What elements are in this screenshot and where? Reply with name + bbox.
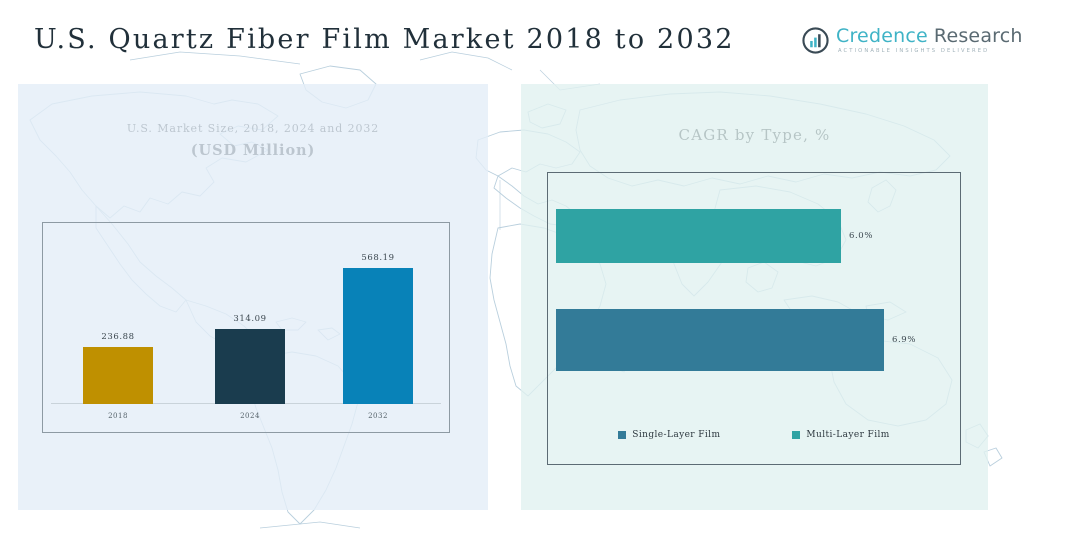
- legend-item-multi-layer-film[interactable]: Multi-Layer Film: [792, 430, 889, 440]
- bar-value-multi-layer-film: 6.0%: [849, 231, 873, 241]
- logo-word-credence: Credence: [836, 27, 928, 46]
- page-title: U.S. Quartz Fiber Film Market 2018 to 20…: [34, 24, 735, 55]
- bar-rect-single-layer-film[interactable]: [556, 309, 884, 371]
- logo-text: Credence Research Actionable Insights De…: [836, 27, 1023, 54]
- column-bar-2024[interactable]: [215, 329, 285, 404]
- legend-label-multi-layer-film: Multi-Layer Film: [806, 430, 889, 440]
- bar-multi-layer-film[interactable]: 6.0%: [556, 209, 841, 263]
- bar-value-single-layer-film: 6.9%: [892, 335, 916, 345]
- legend-swatch-single-layer-film: [618, 431, 626, 439]
- column-2024[interactable]: 314.09: [215, 329, 285, 404]
- infographic-page: U.S. Quartz Fiber Film Market 2018 to 20…: [0, 0, 1073, 538]
- logo-wordmark: Credence Research: [836, 27, 1023, 46]
- logo-tagline: Actionable Insights Delivered: [838, 49, 1023, 54]
- column-label-wrap-2018: 2018: [83, 412, 153, 426]
- column-label-wrap-2024: 2024: [215, 412, 285, 426]
- column-bar-2032[interactable]: [343, 268, 413, 404]
- bar-single-layer-film[interactable]: 6.9%: [556, 309, 884, 371]
- legend-label-single-layer-film: Single-Layer Film: [632, 430, 720, 440]
- cagr-chart-legend: Single-Layer Film Multi-Layer Film: [548, 430, 960, 440]
- legend-item-single-layer-film[interactable]: Single-Layer Film: [618, 430, 720, 440]
- market-size-column-chart: 236.88 2018 314.09 2024 568.19 2032: [42, 222, 450, 433]
- column-label-2032: 2032: [323, 412, 433, 420]
- credence-bars-circle-logo-icon: [802, 27, 829, 54]
- column-label-2024: 2024: [195, 412, 305, 420]
- column-value-2032: 568.19: [323, 253, 433, 263]
- credence-research-logo: Credence Research Actionable Insights De…: [802, 27, 1023, 54]
- bar-rect-multi-layer-film[interactable]: [556, 209, 841, 263]
- logo-word-research: Research: [934, 27, 1023, 46]
- header: U.S. Quartz Fiber Film Market 2018 to 20…: [0, 0, 1073, 80]
- column-value-2024: 314.09: [195, 314, 305, 324]
- column-label-2018: 2018: [63, 412, 173, 420]
- column-2018[interactable]: 236.88: [83, 347, 153, 404]
- column-bar-2018[interactable]: [83, 347, 153, 404]
- legend-swatch-multi-layer-film: [792, 431, 800, 439]
- cagr-bar-chart: 6.0% 6.9% Single-Layer Film Multi-Layer …: [547, 172, 961, 465]
- column-2032[interactable]: 568.19: [343, 268, 413, 404]
- column-label-wrap-2032: 2032: [343, 412, 413, 426]
- column-value-2018: 236.88: [63, 332, 173, 342]
